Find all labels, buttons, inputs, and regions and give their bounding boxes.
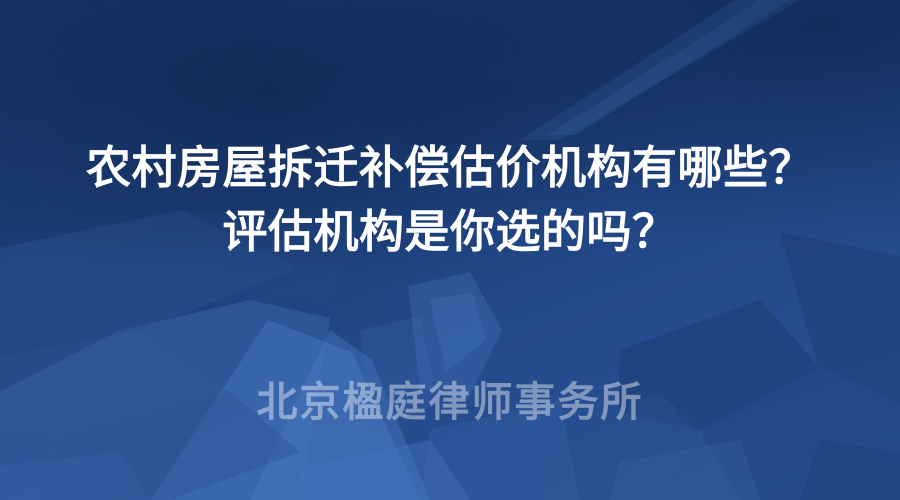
poster-title: 农村房屋拆迁补偿估价机构有哪些？ 评估机构是你选的吗？: [0, 142, 900, 258]
firm-watermark: 北京楹庭律师事务所: [0, 368, 900, 428]
title-line-2: 评估机构是你选的吗？: [0, 206, 900, 258]
poster-canvas: 农村房屋拆迁补偿估价机构有哪些？ 评估机构是你选的吗？ 北京楹庭律师事务所: [0, 0, 900, 500]
title-line-1: 农村房屋拆迁补偿估价机构有哪些？: [0, 142, 900, 194]
